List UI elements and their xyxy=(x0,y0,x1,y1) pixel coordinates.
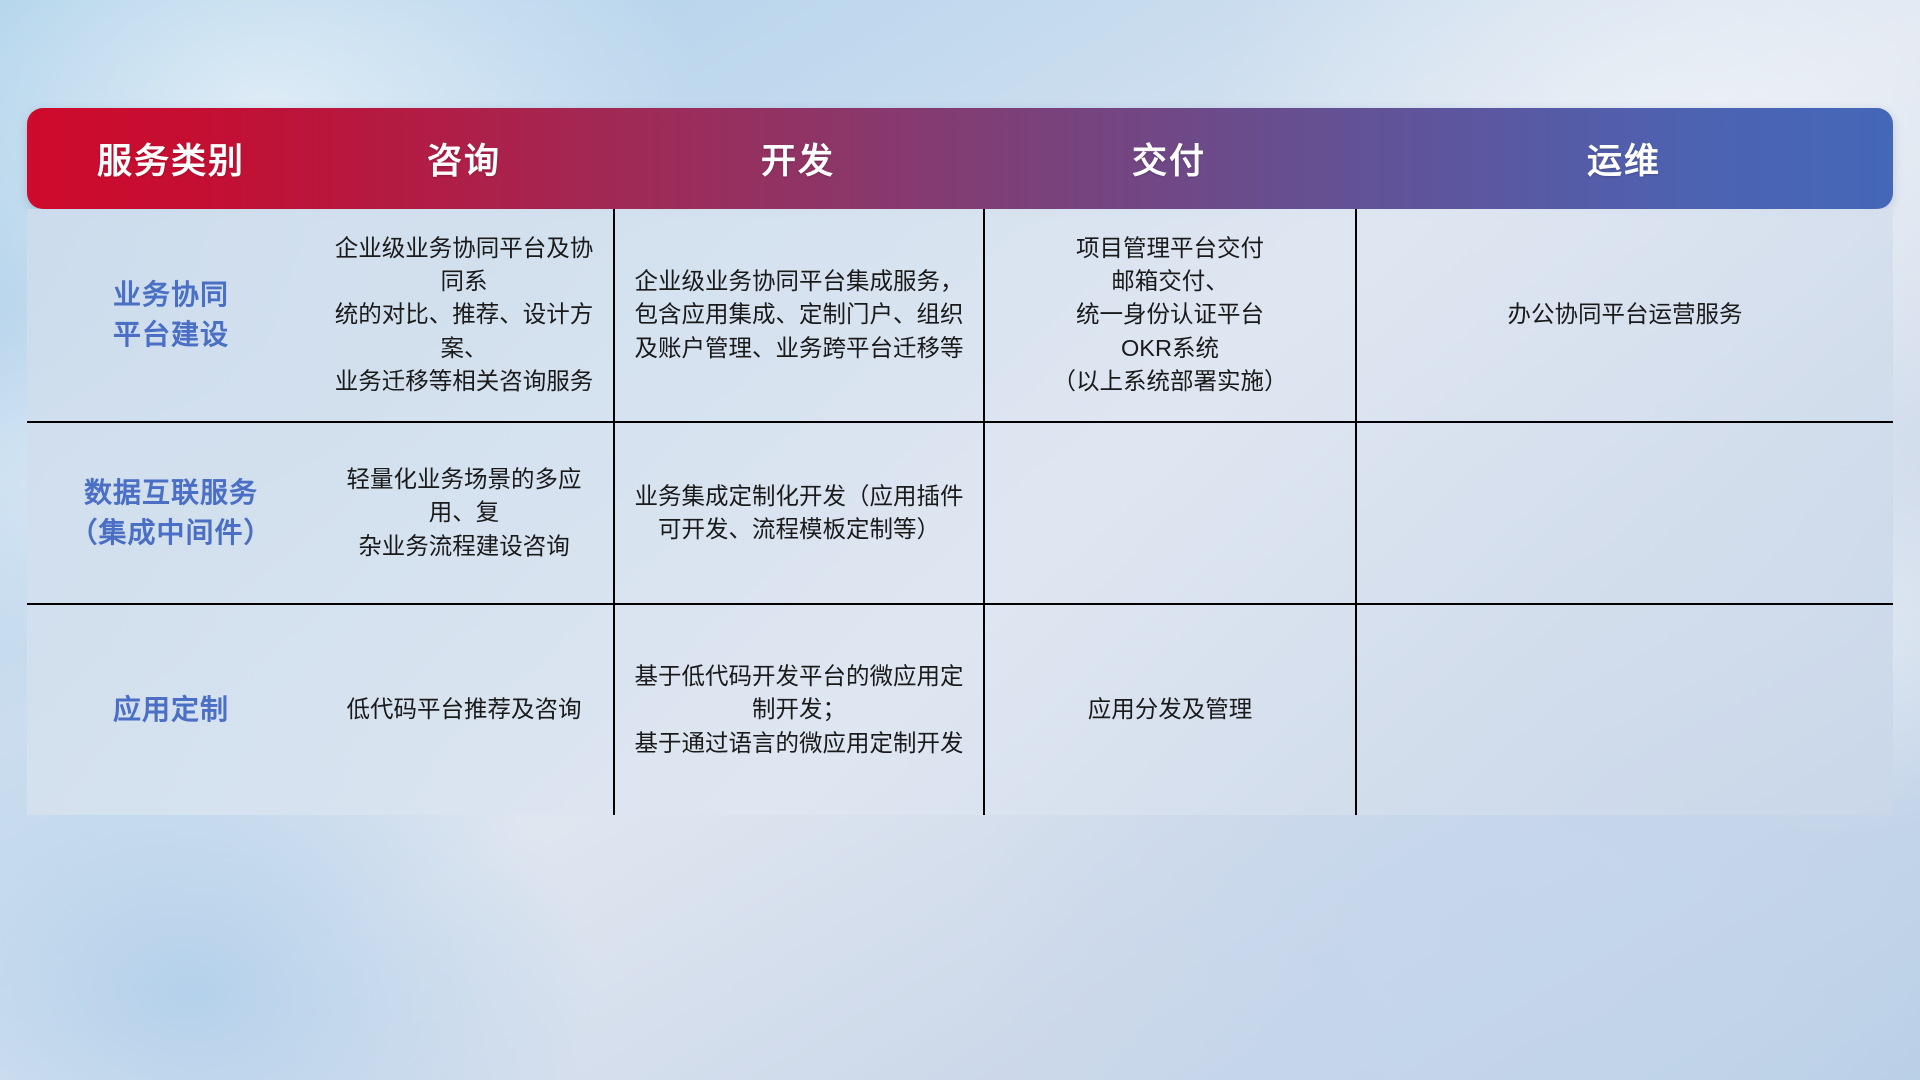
table-row: 应用定制 低代码平台推荐及咨询 基于低代码开发平台的微应用定 制开发； 基于通过… xyxy=(27,603,1893,815)
column-header-development: 开发 xyxy=(613,108,983,209)
column-header-service-category: 服务类别 xyxy=(27,108,315,209)
row-label-data-interconnection: 数据互联服务 （集成中间件） xyxy=(27,423,315,603)
row-label-application-customization: 应用定制 xyxy=(27,605,315,815)
cell-consulting: 轻量化业务场景的多应用、复 杂业务流程建设咨询 xyxy=(315,423,613,603)
cell-development: 企业级业务协同平台集成服务， 包含应用集成、定制门户、组织 及账户管理、业务跨平… xyxy=(613,209,983,421)
cell-development: 基于低代码开发平台的微应用定 制开发； 基于通过语言的微应用定制开发 xyxy=(613,605,983,815)
service-matrix-table: 服务类别 咨询 开发 交付 运维 业务协同 平台建设 企业级业务协同平台及协同系… xyxy=(27,108,1893,815)
table-row: 业务协同 平台建设 企业级业务协同平台及协同系 统的对比、推荐、设计方案、 业务… xyxy=(27,209,1893,421)
cell-operations xyxy=(1355,423,1893,603)
cell-delivery: 项目管理平台交付 邮箱交付、 统一身份认证平台 OKR系统 （以上系统部署实施） xyxy=(983,209,1355,421)
cell-operations xyxy=(1355,605,1893,815)
row-label-business-collaboration: 业务协同 平台建设 xyxy=(27,209,315,421)
column-header-operations: 运维 xyxy=(1355,108,1893,209)
column-header-consulting: 咨询 xyxy=(315,108,613,209)
cell-delivery xyxy=(983,423,1355,603)
cell-consulting: 企业级业务协同平台及协同系 统的对比、推荐、设计方案、 业务迁移等相关咨询服务 xyxy=(315,209,613,421)
table-body: 业务协同 平台建设 企业级业务协同平台及协同系 统的对比、推荐、设计方案、 业务… xyxy=(27,209,1893,815)
cell-development: 业务集成定制化开发（应用插件 可开发、流程模板定制等） xyxy=(613,423,983,603)
column-header-delivery: 交付 xyxy=(983,108,1355,209)
cell-delivery: 应用分发及管理 xyxy=(983,605,1355,815)
cell-consulting: 低代码平台推荐及咨询 xyxy=(315,605,613,815)
table-row: 数据互联服务 （集成中间件） 轻量化业务场景的多应用、复 杂业务流程建设咨询 业… xyxy=(27,421,1893,603)
cell-operations: 办公协同平台运营服务 xyxy=(1355,209,1893,421)
table-header-row: 服务类别 咨询 开发 交付 运维 xyxy=(27,108,1893,209)
